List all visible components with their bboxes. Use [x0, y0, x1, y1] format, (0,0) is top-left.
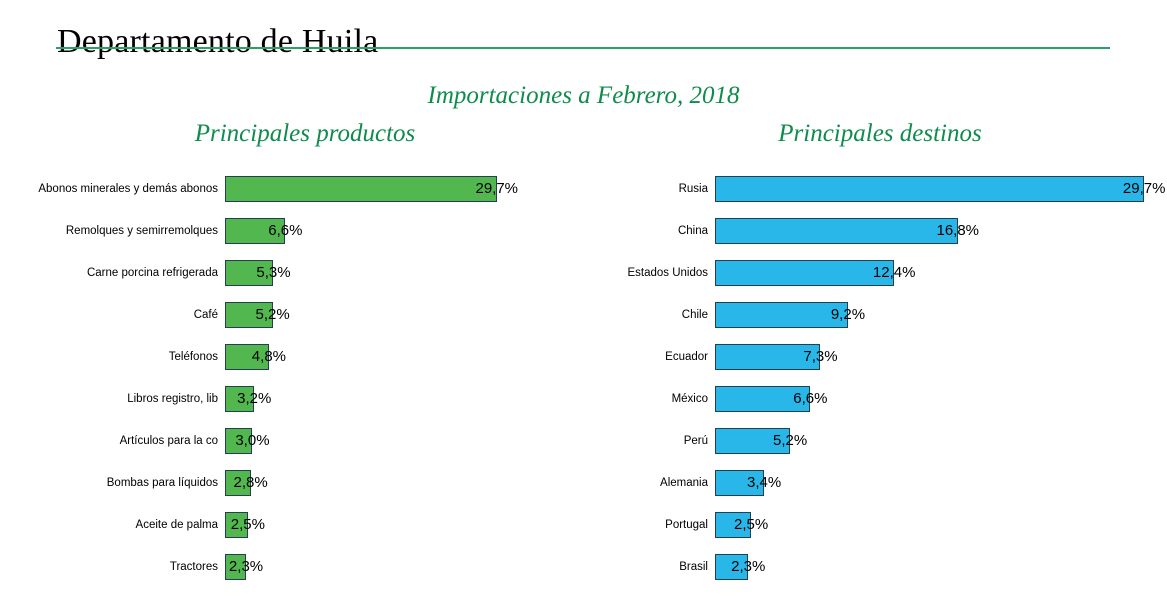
bar-row: Portugal2,5%: [580, 512, 1167, 554]
bar-row: Ecuador7,3%: [580, 344, 1167, 386]
bar-row: Alemania3,4%: [580, 470, 1167, 512]
bar: [715, 260, 894, 286]
category-label: Ecuador: [588, 344, 708, 370]
category-label: Bombas para líquidos: [8, 470, 218, 496]
bar-row: Brasil2,3%: [580, 554, 1167, 596]
destinations-panel-heading: Principales destinos: [630, 120, 1130, 148]
category-label: Tractores: [8, 554, 218, 580]
category-label: Estados Unidos: [588, 260, 708, 286]
bar: [715, 176, 1144, 202]
bar-value-label: 2,8%: [234, 470, 268, 496]
bar-value-label: 5,2%: [773, 428, 807, 454]
chart-principales-destinos: Rusia29,7%China16,8%Estados Unidos12,4%C…: [580, 176, 1167, 596]
bar-value-label: 6,6%: [268, 218, 302, 244]
bar-row: Bombas para líquidos2,8%: [0, 470, 560, 512]
category-label: Café: [8, 302, 218, 328]
bar-row: México6,6%: [580, 386, 1167, 428]
bar-value-label: 3,0%: [235, 428, 269, 454]
category-label: Teléfonos: [8, 344, 218, 370]
bar-value-label: 12,4%: [873, 260, 916, 286]
bar-row: China16,8%: [580, 218, 1167, 260]
products-panel-heading: Principales productos: [100, 120, 510, 148]
subtitle: Importaciones a Febrero, 2018: [0, 82, 1167, 110]
bar-row: Remolques y semirremolques6,6%: [0, 218, 560, 260]
bar-row: Libros registro, lib3,2%: [0, 386, 560, 428]
bar-value-label: 9,2%: [831, 302, 865, 328]
chart-principales-productos: Abonos minerales y demás abonos29,7%Remo…: [0, 176, 560, 596]
title-divider: [56, 47, 1110, 49]
bar-row: Rusia29,7%: [580, 176, 1167, 218]
category-label: Rusia: [588, 176, 708, 202]
category-label: México: [588, 386, 708, 412]
bar-value-label: 3,2%: [237, 386, 271, 412]
category-label: Alemania: [588, 470, 708, 496]
category-label: Perú: [588, 428, 708, 454]
bar-row: Teléfonos4,8%: [0, 344, 560, 386]
bar-value-label: 16,8%: [936, 218, 979, 244]
category-label: Chile: [588, 302, 708, 328]
bar-value-label: 4,8%: [252, 344, 286, 370]
category-label: Aceite de palma: [8, 512, 218, 538]
category-label: Artículos para la co: [8, 428, 218, 454]
bar-value-label: 2,3%: [229, 554, 263, 580]
bar-value-label: 2,3%: [731, 554, 765, 580]
category-label: Portugal: [588, 512, 708, 538]
bar-value-label: 3,4%: [747, 470, 781, 496]
bar-value-label: 5,3%: [256, 260, 290, 286]
bar-row: Tractores2,3%: [0, 554, 560, 596]
bar: [225, 176, 497, 202]
bar-value-label: 5,2%: [255, 302, 289, 328]
bar-value-label: 29,7%: [475, 176, 518, 202]
category-label: Remolques y semirremolques: [8, 218, 218, 244]
bar-value-label: 2,5%: [734, 512, 768, 538]
bar-row: Perú5,2%: [580, 428, 1167, 470]
bar-row: Carne porcina refrigerada5,3%: [0, 260, 560, 302]
category-label: Carne porcina refrigerada: [8, 260, 218, 286]
bar: [715, 218, 958, 244]
bar-value-label: 7,3%: [803, 344, 837, 370]
bar-value-label: 6,6%: [793, 386, 827, 412]
category-label: Abonos minerales y demás abonos: [8, 176, 218, 202]
category-label: China: [588, 218, 708, 244]
bar-value-label: 2,5%: [231, 512, 265, 538]
bar-row: Aceite de palma2,5%: [0, 512, 560, 554]
bar-row: Abonos minerales y demás abonos29,7%: [0, 176, 560, 218]
category-label: Libros registro, lib: [8, 386, 218, 412]
category-label: Brasil: [588, 554, 708, 580]
bar-value-label: 29,7%: [1123, 176, 1166, 202]
bar-row: Chile9,2%: [580, 302, 1167, 344]
bar-row: Artículos para la co3,0%: [0, 428, 560, 470]
bar-row: Estados Unidos12,4%: [580, 260, 1167, 302]
bar: [715, 302, 848, 328]
page-title: Departamento de Huila: [57, 23, 378, 61]
bar-row: Café5,2%: [0, 302, 560, 344]
